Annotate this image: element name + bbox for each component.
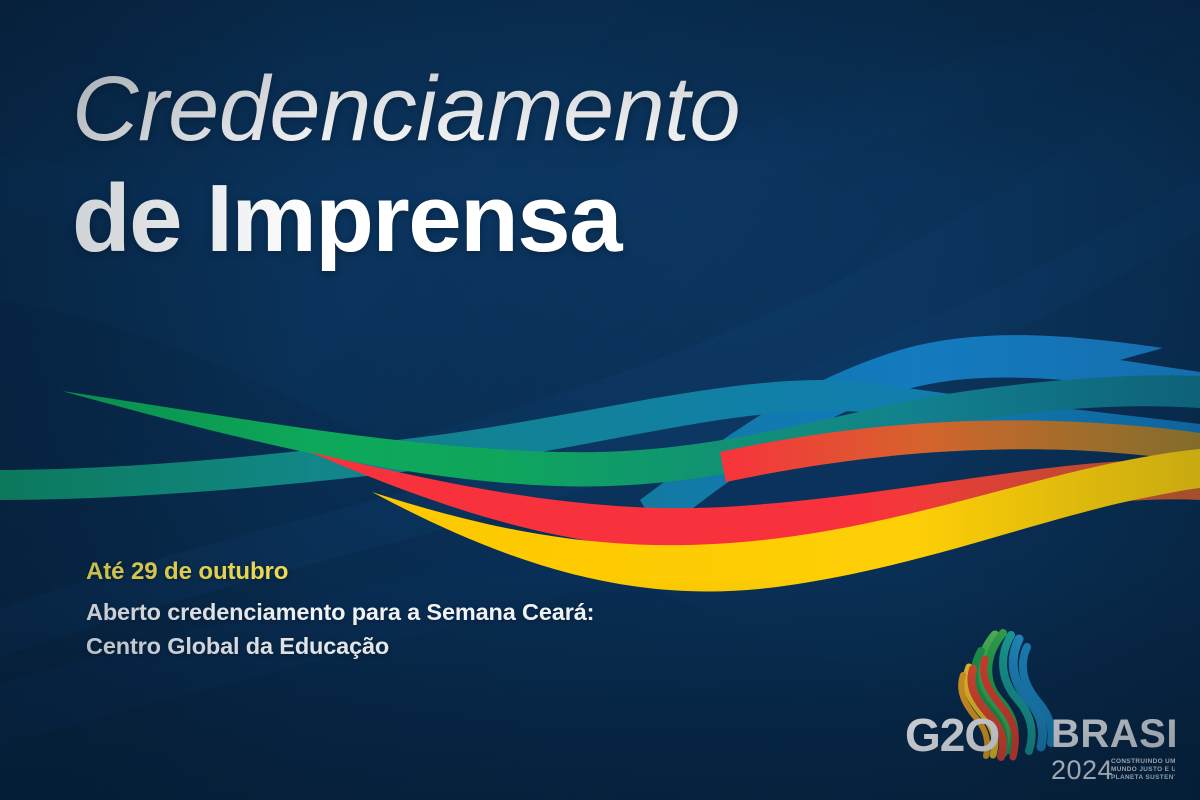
press-accreditation-poster: Credenciamento de Imprensa Até 29 de out… [0,0,1200,800]
background-vignette [0,0,1200,800]
